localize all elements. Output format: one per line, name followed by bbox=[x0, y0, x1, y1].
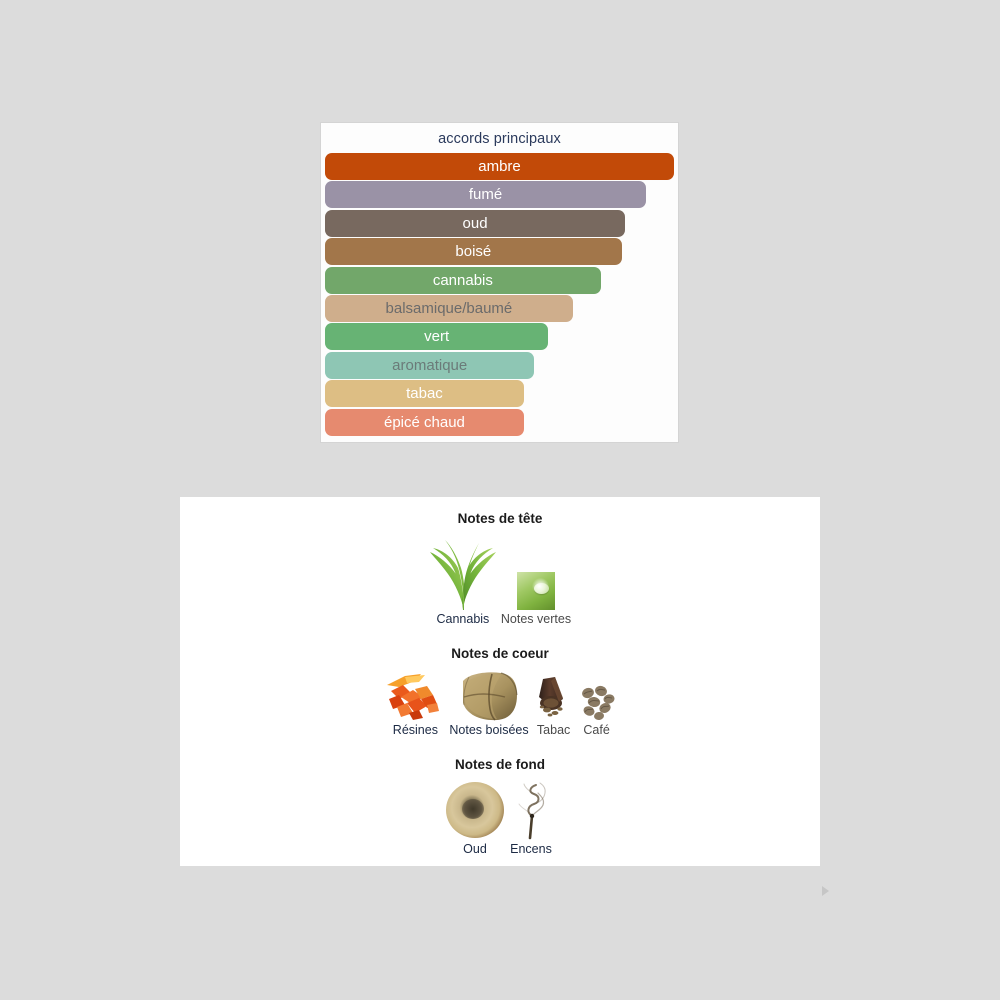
notes-row-coeur: Résines bbox=[180, 671, 820, 737]
accord-bar: aromatique bbox=[325, 352, 534, 379]
note-caption: Cannabis bbox=[436, 612, 489, 626]
water-droplet-icon bbox=[534, 583, 549, 594]
accord-label: cannabis bbox=[433, 273, 493, 288]
accord-label: oud bbox=[463, 216, 488, 231]
notes-group-coeur: Notes de coeur bbox=[180, 626, 820, 737]
scroll-right-arrow-icon[interactable] bbox=[822, 886, 829, 896]
accord-row: fumé bbox=[325, 181, 678, 209]
note-item-tabac[interactable]: Tabac bbox=[533, 677, 575, 737]
accord-bar: ambre bbox=[325, 153, 674, 180]
accord-label: fumé bbox=[469, 187, 502, 202]
note-item-notes-vertes[interactable]: Notes vertes bbox=[501, 572, 571, 626]
accord-row: boisé bbox=[325, 238, 678, 266]
resin-icon bbox=[385, 673, 445, 721]
accord-bar: fumé bbox=[325, 181, 646, 208]
incense-smoke-icon bbox=[508, 782, 554, 840]
accord-bar: boisé bbox=[325, 238, 622, 265]
note-item-resines[interactable]: Résines bbox=[385, 673, 445, 737]
cigar-icon bbox=[533, 677, 575, 721]
notes-group-heading: Notes de tête bbox=[180, 497, 820, 526]
accord-row: vert bbox=[325, 323, 678, 351]
notes-row-tete: Cannabis Notes vertes bbox=[180, 538, 820, 626]
accord-label: tabac bbox=[406, 386, 443, 401]
accord-row: oud bbox=[325, 210, 678, 238]
coffee-beans-icon bbox=[579, 685, 615, 721]
accords-panel-title: accords principaux bbox=[321, 123, 678, 153]
note-caption: Café bbox=[583, 723, 609, 737]
accord-row: aromatique bbox=[325, 352, 678, 380]
accord-row: épicé chaud bbox=[325, 409, 678, 437]
cannabis-leaf-icon bbox=[429, 538, 497, 610]
note-caption: Résines bbox=[393, 723, 438, 737]
accord-label: ambre bbox=[478, 159, 521, 174]
accord-row: ambre bbox=[325, 153, 678, 181]
accord-label: balsamique/baumé bbox=[386, 301, 513, 316]
accord-bar: cannabis bbox=[325, 267, 601, 294]
wood-log-icon bbox=[459, 671, 519, 721]
note-item-cafe[interactable]: Café bbox=[579, 685, 615, 737]
accord-bar: tabac bbox=[325, 380, 524, 407]
accord-bar: oud bbox=[325, 210, 625, 237]
accord-label: vert bbox=[424, 329, 449, 344]
accord-bar: vert bbox=[325, 323, 548, 350]
note-caption: Notes vertes bbox=[501, 612, 571, 626]
accords-principaux-panel: accords principaux ambrefuméoudboisécann… bbox=[321, 123, 678, 442]
green-notes-icon bbox=[517, 572, 555, 610]
notes-group-tete: Notes de tête bbox=[180, 497, 820, 626]
note-caption: Oud bbox=[463, 842, 487, 856]
accord-label: épicé chaud bbox=[384, 415, 465, 430]
note-item-cannabis[interactable]: Cannabis bbox=[429, 538, 497, 626]
accord-row: tabac bbox=[325, 380, 678, 408]
note-caption: Encens bbox=[510, 842, 552, 856]
oud-wood-slice-icon bbox=[446, 782, 504, 840]
note-item-oud[interactable]: Oud bbox=[446, 782, 504, 856]
notes-group-fond: Notes de fond Oud bbox=[180, 737, 820, 856]
notes-group-heading: Notes de fond bbox=[180, 737, 820, 772]
accord-row: cannabis bbox=[325, 267, 678, 295]
note-caption: Tabac bbox=[537, 723, 570, 737]
accord-row: balsamique/baumé bbox=[325, 295, 678, 323]
note-caption: Notes boisées bbox=[449, 723, 528, 737]
notes-row-fond: Oud Ence bbox=[180, 782, 820, 856]
note-item-notes-boisees[interactable]: Notes boisées bbox=[449, 671, 528, 737]
accords-bar-chart: ambrefuméoudboisécannabisbalsamique/baum… bbox=[321, 153, 678, 437]
fragrance-notes-panel: Notes de tête bbox=[180, 497, 820, 866]
accord-bar: balsamique/baumé bbox=[325, 295, 573, 322]
notes-group-heading: Notes de coeur bbox=[180, 626, 820, 661]
note-item-encens[interactable]: Encens bbox=[508, 782, 554, 856]
accord-label: boisé bbox=[455, 244, 491, 259]
accord-bar: épicé chaud bbox=[325, 409, 524, 436]
accord-label: aromatique bbox=[392, 358, 467, 373]
